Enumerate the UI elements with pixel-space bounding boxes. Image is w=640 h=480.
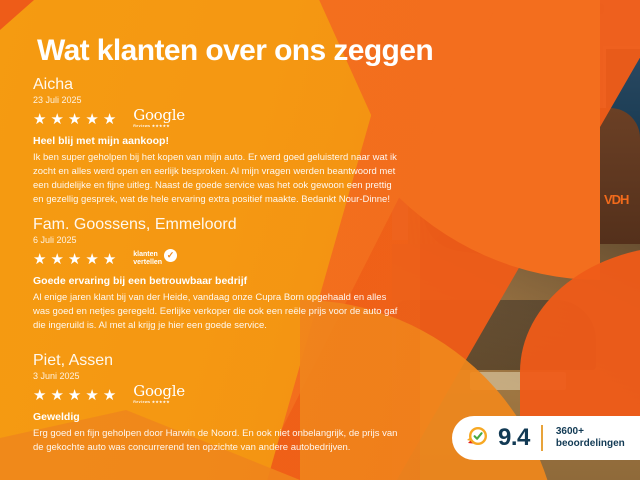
google-wordmark: Google xyxy=(133,384,187,399)
google-wordmark: Google xyxy=(133,108,187,123)
review-meta: ★ ★ ★ ★ ★ Google Reviews ★★★★★ xyxy=(33,108,401,130)
badge-divider xyxy=(541,425,543,451)
star-icon: ★ xyxy=(50,388,64,403)
review-body: Erg goed en fijn geholpen door Harwin de… xyxy=(33,427,401,455)
klantenvertellen-wordmark: klanten vertellen xyxy=(133,251,162,267)
review-banner: VDH Wat klanten over ons zeggen Aicha 23… xyxy=(0,0,640,480)
klantenvertellen-line2: vertellen xyxy=(133,259,162,267)
rating-count: 3600+ xyxy=(556,426,625,439)
google-reviews-subtext: Reviews ★★★★★ xyxy=(133,124,187,128)
google-reviews-logo: Google Reviews ★★★★★ xyxy=(133,108,187,130)
reviewer-name: Aicha xyxy=(33,76,401,94)
reviewer-name: Fam. Goossens, Emmeloord xyxy=(33,216,401,234)
review-date: 3 Juni 2025 xyxy=(33,372,401,382)
content-layer: Wat klanten over ons zeggen Aicha 23 Jul… xyxy=(0,0,640,480)
star-icon: ★ xyxy=(103,252,117,267)
rating-count-block: 3600+ beoordelingen xyxy=(556,426,625,451)
star-icon: ★ xyxy=(68,252,82,267)
review-card: Fam. Goossens, Emmeloord 6 Juli 2025 ★ ★… xyxy=(33,216,401,333)
review-date: 23 Juli 2025 xyxy=(33,96,401,106)
star-icon: ★ xyxy=(103,388,117,403)
reviewer-name: Piet, Assen xyxy=(33,352,401,370)
star-icon: ★ xyxy=(68,112,82,127)
star-icon: ★ xyxy=(50,112,64,127)
rating-count-label: beoordelingen xyxy=(556,438,625,451)
klantenvertellen-logo: klanten vertellen ✓ xyxy=(133,249,177,269)
star-icon: ★ xyxy=(33,112,47,127)
klantenvertellen-line1: klanten xyxy=(133,251,162,259)
review-title: Heel blij met mijn aankoop! xyxy=(33,135,401,148)
star-icon: ★ xyxy=(33,252,47,267)
review-card: Piet, Assen 3 Juni 2025 ★ ★ ★ ★ ★ Google… xyxy=(33,352,401,455)
star-rating: ★ ★ ★ ★ ★ xyxy=(33,252,117,267)
review-meta: ★ ★ ★ ★ ★ klanten vertellen ✓ xyxy=(33,248,401,270)
review-body: Al enige jaren klant bij van der Heide, … xyxy=(33,291,401,333)
star-rating: ★ ★ ★ ★ ★ xyxy=(33,112,117,127)
review-title: Geweldig xyxy=(33,411,401,424)
review-date: 6 Juli 2025 xyxy=(33,236,401,246)
star-icon: ★ xyxy=(85,388,99,403)
review-meta: ★ ★ ★ ★ ★ Google Reviews ★★★★★ xyxy=(33,384,401,406)
google-reviews-logo: Google Reviews ★★★★★ xyxy=(133,384,187,406)
star-icon: ★ xyxy=(33,388,47,403)
review-body: Ik ben super geholpen bij het kopen van … xyxy=(33,151,401,207)
klantenvertellen-check-icon xyxy=(465,426,489,450)
star-icon: ★ xyxy=(85,112,99,127)
rating-score: 9.4 xyxy=(498,426,530,450)
google-reviews-subtext: Reviews ★★★★★ xyxy=(133,400,187,404)
page-title: Wat klanten over ons zeggen xyxy=(37,34,433,68)
star-rating: ★ ★ ★ ★ ★ xyxy=(33,388,117,403)
review-card: Aicha 23 Juli 2025 ★ ★ ★ ★ ★ Google Revi… xyxy=(33,76,401,207)
rating-badge: 9.4 3600+ beoordelingen xyxy=(452,416,640,460)
check-circle-icon: ✓ xyxy=(164,249,177,262)
review-title: Goede ervaring bij een betrouwbaar bedri… xyxy=(33,275,401,288)
star-icon: ★ xyxy=(68,388,82,403)
star-icon: ★ xyxy=(50,252,64,267)
star-icon: ★ xyxy=(85,252,99,267)
star-icon: ★ xyxy=(103,112,117,127)
